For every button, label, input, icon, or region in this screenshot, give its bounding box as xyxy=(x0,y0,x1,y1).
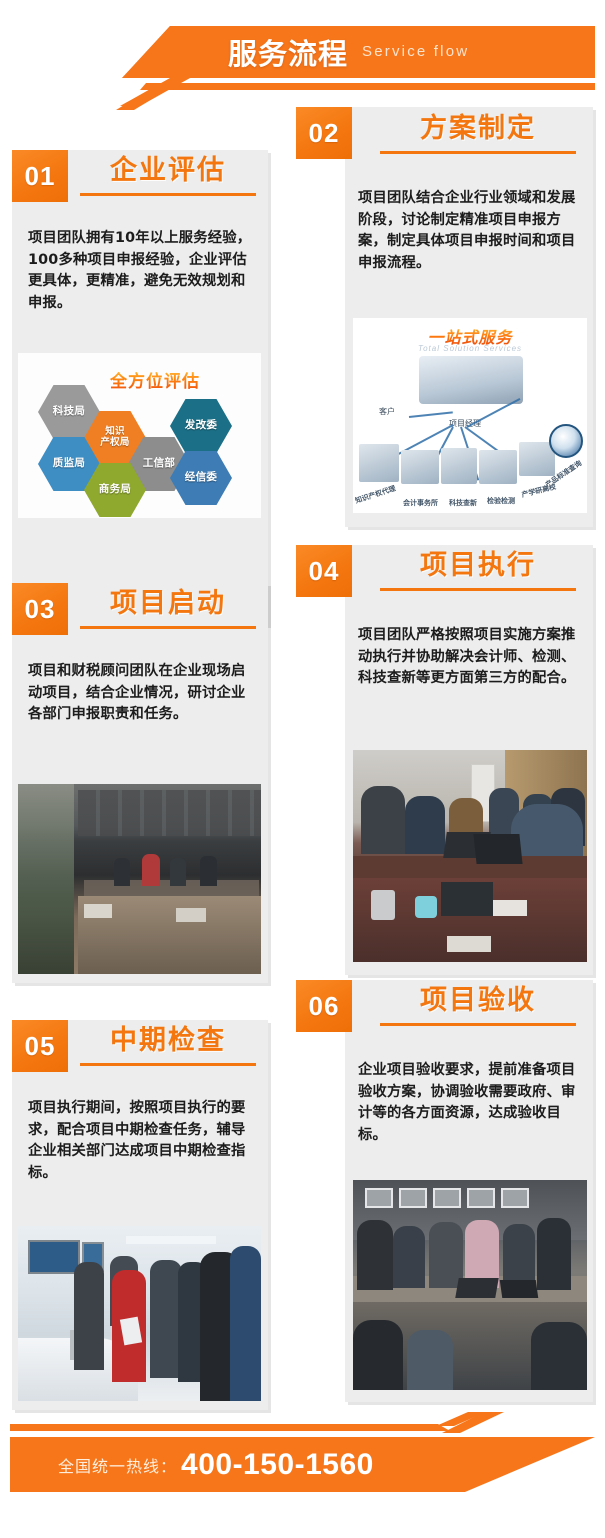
photo-boardroom xyxy=(353,1180,587,1390)
service-map-node-4 xyxy=(479,450,517,484)
page-header: 服务流程 Service flow xyxy=(0,0,605,100)
step-number-03: 03 xyxy=(12,583,68,635)
service-map-branch-4: 检验检测 xyxy=(487,496,515,506)
footer-hotline-group: 全国统一热线： 400-150-1560 xyxy=(10,1437,595,1492)
step-title-06: 项目验收 xyxy=(380,986,576,1016)
step-title-03-group: 项目启动 xyxy=(80,589,256,629)
header-accent-strip xyxy=(0,83,595,90)
hex-node-zhishichanquan-label: 知识产权局 xyxy=(100,427,129,448)
service-map-node-3 xyxy=(441,448,477,484)
header-title-group: 服务流程 Service flow xyxy=(0,26,595,78)
step-title-02: 方案制定 xyxy=(380,114,576,144)
step-media-03 xyxy=(18,784,261,974)
step-body-06: 企业项目验收要求，提前准备项目验收方案，协调验收需要政府、审计等的各方面资源，达… xyxy=(358,1060,580,1147)
step-title-01-group: 企业评估 xyxy=(80,156,256,196)
steps-grid: 01 企业评估 项目团队拥有10年以上服务经验，100多种项目申报经验，企业评估… xyxy=(0,100,605,1412)
hex-chart-title: 全方位评估 xyxy=(110,367,200,392)
service-map-seal-icon xyxy=(549,424,583,458)
step-title-05-rule xyxy=(80,1063,256,1066)
photo-showroom-visit xyxy=(18,1226,261,1401)
step-body-01: 项目团队拥有10年以上服务经验，100多种项目申报经验，企业评估更具体，更精准，… xyxy=(28,228,253,315)
step-number-04: 04 xyxy=(296,545,352,597)
step-title-05: 中期检查 xyxy=(80,1026,256,1056)
hex-node-fagaiwei: 发改委 xyxy=(170,399,232,453)
page-footer: 全国统一热线： 400-150-1560 xyxy=(0,1412,605,1538)
step-title-04-rule xyxy=(380,588,576,591)
step-title-05-group: 中期检查 xyxy=(80,1026,256,1066)
step-number-01: 01 xyxy=(12,150,68,202)
photo-conference-laptops xyxy=(353,750,587,962)
page-subtitle: Service flow xyxy=(362,43,469,62)
service-map-label-customer: 客户 xyxy=(379,406,395,417)
step-number-05: 05 xyxy=(12,1020,68,1072)
step-title-06-group: 项目验收 xyxy=(380,986,576,1026)
step-body-03: 项目和财税顾问团队在企业现场启动项目，结合企业情况，研讨企业各部门申报职责和任务… xyxy=(28,661,253,726)
service-map: 一站式服务 Total Solution Services 客户 项目经理 知识… xyxy=(353,318,587,513)
hotline-label: 全国统一热线： xyxy=(58,1453,177,1477)
step-title-01-rule xyxy=(80,193,256,196)
step-media-06 xyxy=(353,1180,587,1390)
service-map-branch-2: 会计事务所 xyxy=(403,498,438,508)
step-title-02-rule xyxy=(380,151,576,154)
step-title-03: 项目启动 xyxy=(80,589,256,619)
step-title-06-rule xyxy=(380,1023,576,1026)
step-body-02: 项目团队结合企业行业领域和发展阶段，讨论制定精准项目申报方案，制定具体项目申报时… xyxy=(358,188,580,275)
service-map-subtitle: Total Solution Services xyxy=(353,344,587,353)
step-media-02: 一站式服务 Total Solution Services 客户 项目经理 知识… xyxy=(353,318,587,513)
service-map-branch-1: 知识产权代理 xyxy=(354,484,397,506)
photo-meeting-room xyxy=(18,784,261,974)
step-body-05: 项目执行期间，按照项目执行的要求，配合项目中期检查任务，辅导企业相关部门达成项目… xyxy=(28,1098,253,1185)
step-body-04: 项目团队严格按照项目实施方案推动执行并协助解决会计师、检测、科技查新等更方面第三… xyxy=(358,625,580,690)
hotline-number[interactable]: 400-150-1560 xyxy=(181,1448,374,1482)
service-map-branch-3: 科技查新 xyxy=(449,498,477,508)
step-number-02: 02 xyxy=(296,107,352,159)
step-number-06: 06 xyxy=(296,980,352,1032)
service-map-hub-photo xyxy=(419,356,523,404)
footer-diagonal-lower xyxy=(420,1412,605,1426)
footer-accent-strip xyxy=(10,1424,595,1431)
service-map-node-2 xyxy=(401,450,439,484)
service-map-arrow-1 xyxy=(409,411,453,418)
page-title: 服务流程 xyxy=(228,31,348,73)
step-media-05 xyxy=(18,1226,261,1401)
step-title-01: 企业评估 xyxy=(80,156,256,186)
step-media-04 xyxy=(353,750,587,962)
hex-chart: 全方位评估 科技局 知识产权局 发改委 质监局 工信部 商务局 经信委 xyxy=(18,353,261,518)
step-title-04-group: 项目执行 xyxy=(380,551,576,591)
step-title-04: 项目执行 xyxy=(380,551,576,581)
step-media-01: 全方位评估 科技局 知识产权局 发改委 质监局 工信部 商务局 经信委 xyxy=(18,353,261,518)
step-title-03-rule xyxy=(80,626,256,629)
step-title-02-group: 方案制定 xyxy=(380,114,576,154)
service-map-node-1 xyxy=(359,444,399,482)
